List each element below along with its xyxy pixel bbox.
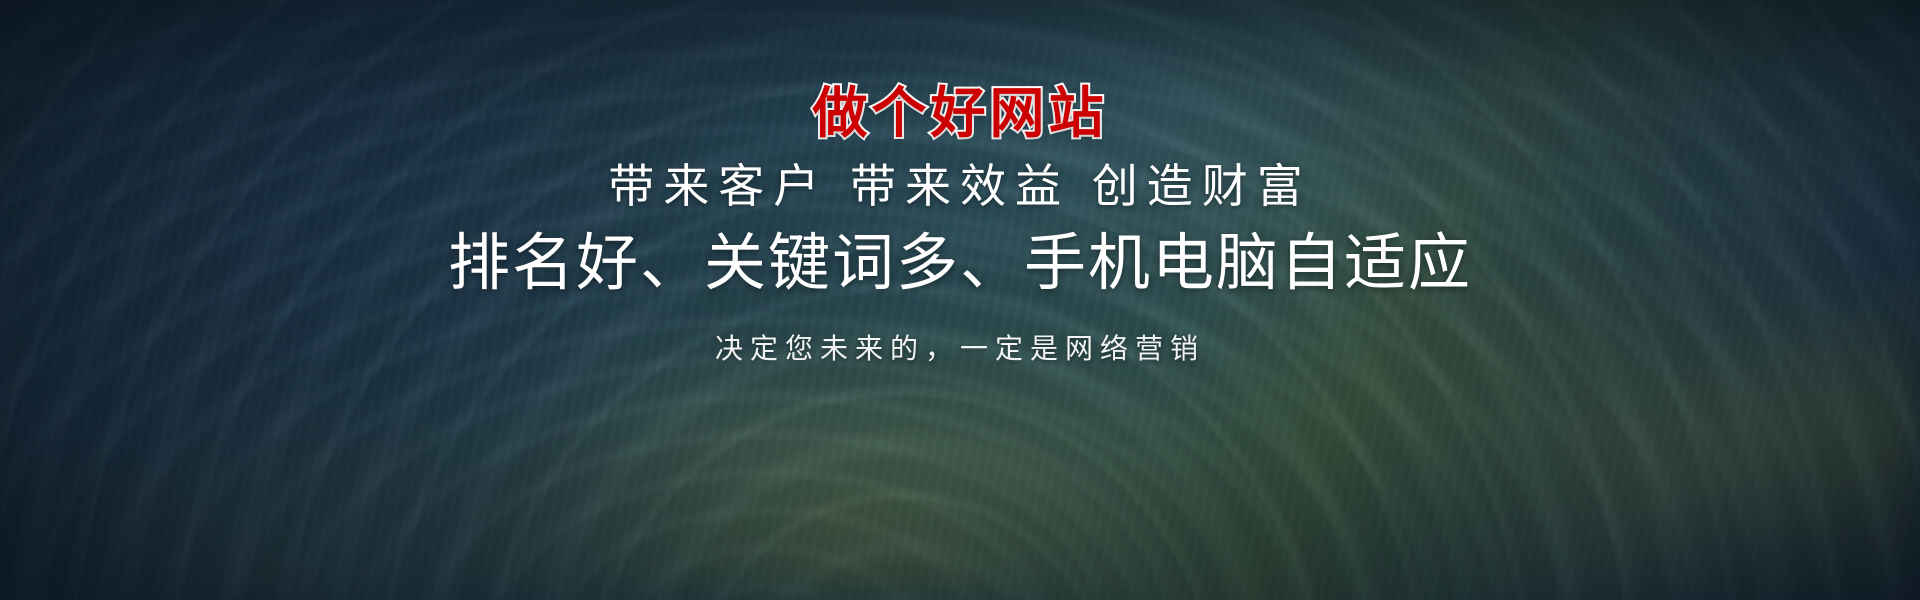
hero-banner: 做个好网站 带来客户 带来效益 创造财富 排名好、关键词多、手机电脑自适应 决定…	[0, 0, 1920, 600]
banner-subheadline: 带来客户 带来效益 创造财富	[608, 163, 1312, 209]
banner-headline: 做个好网站	[812, 86, 1107, 141]
banner-footer-slogan: 决定您未来的，一定是网络营销	[715, 335, 1205, 363]
banner-main-slogan: 排名好、关键词多、手机电脑自适应	[448, 233, 1472, 295]
banner-text-block: 做个好网站 带来客户 带来效益 创造财富 排名好、关键词多、手机电脑自适应 决定…	[0, 0, 1920, 600]
